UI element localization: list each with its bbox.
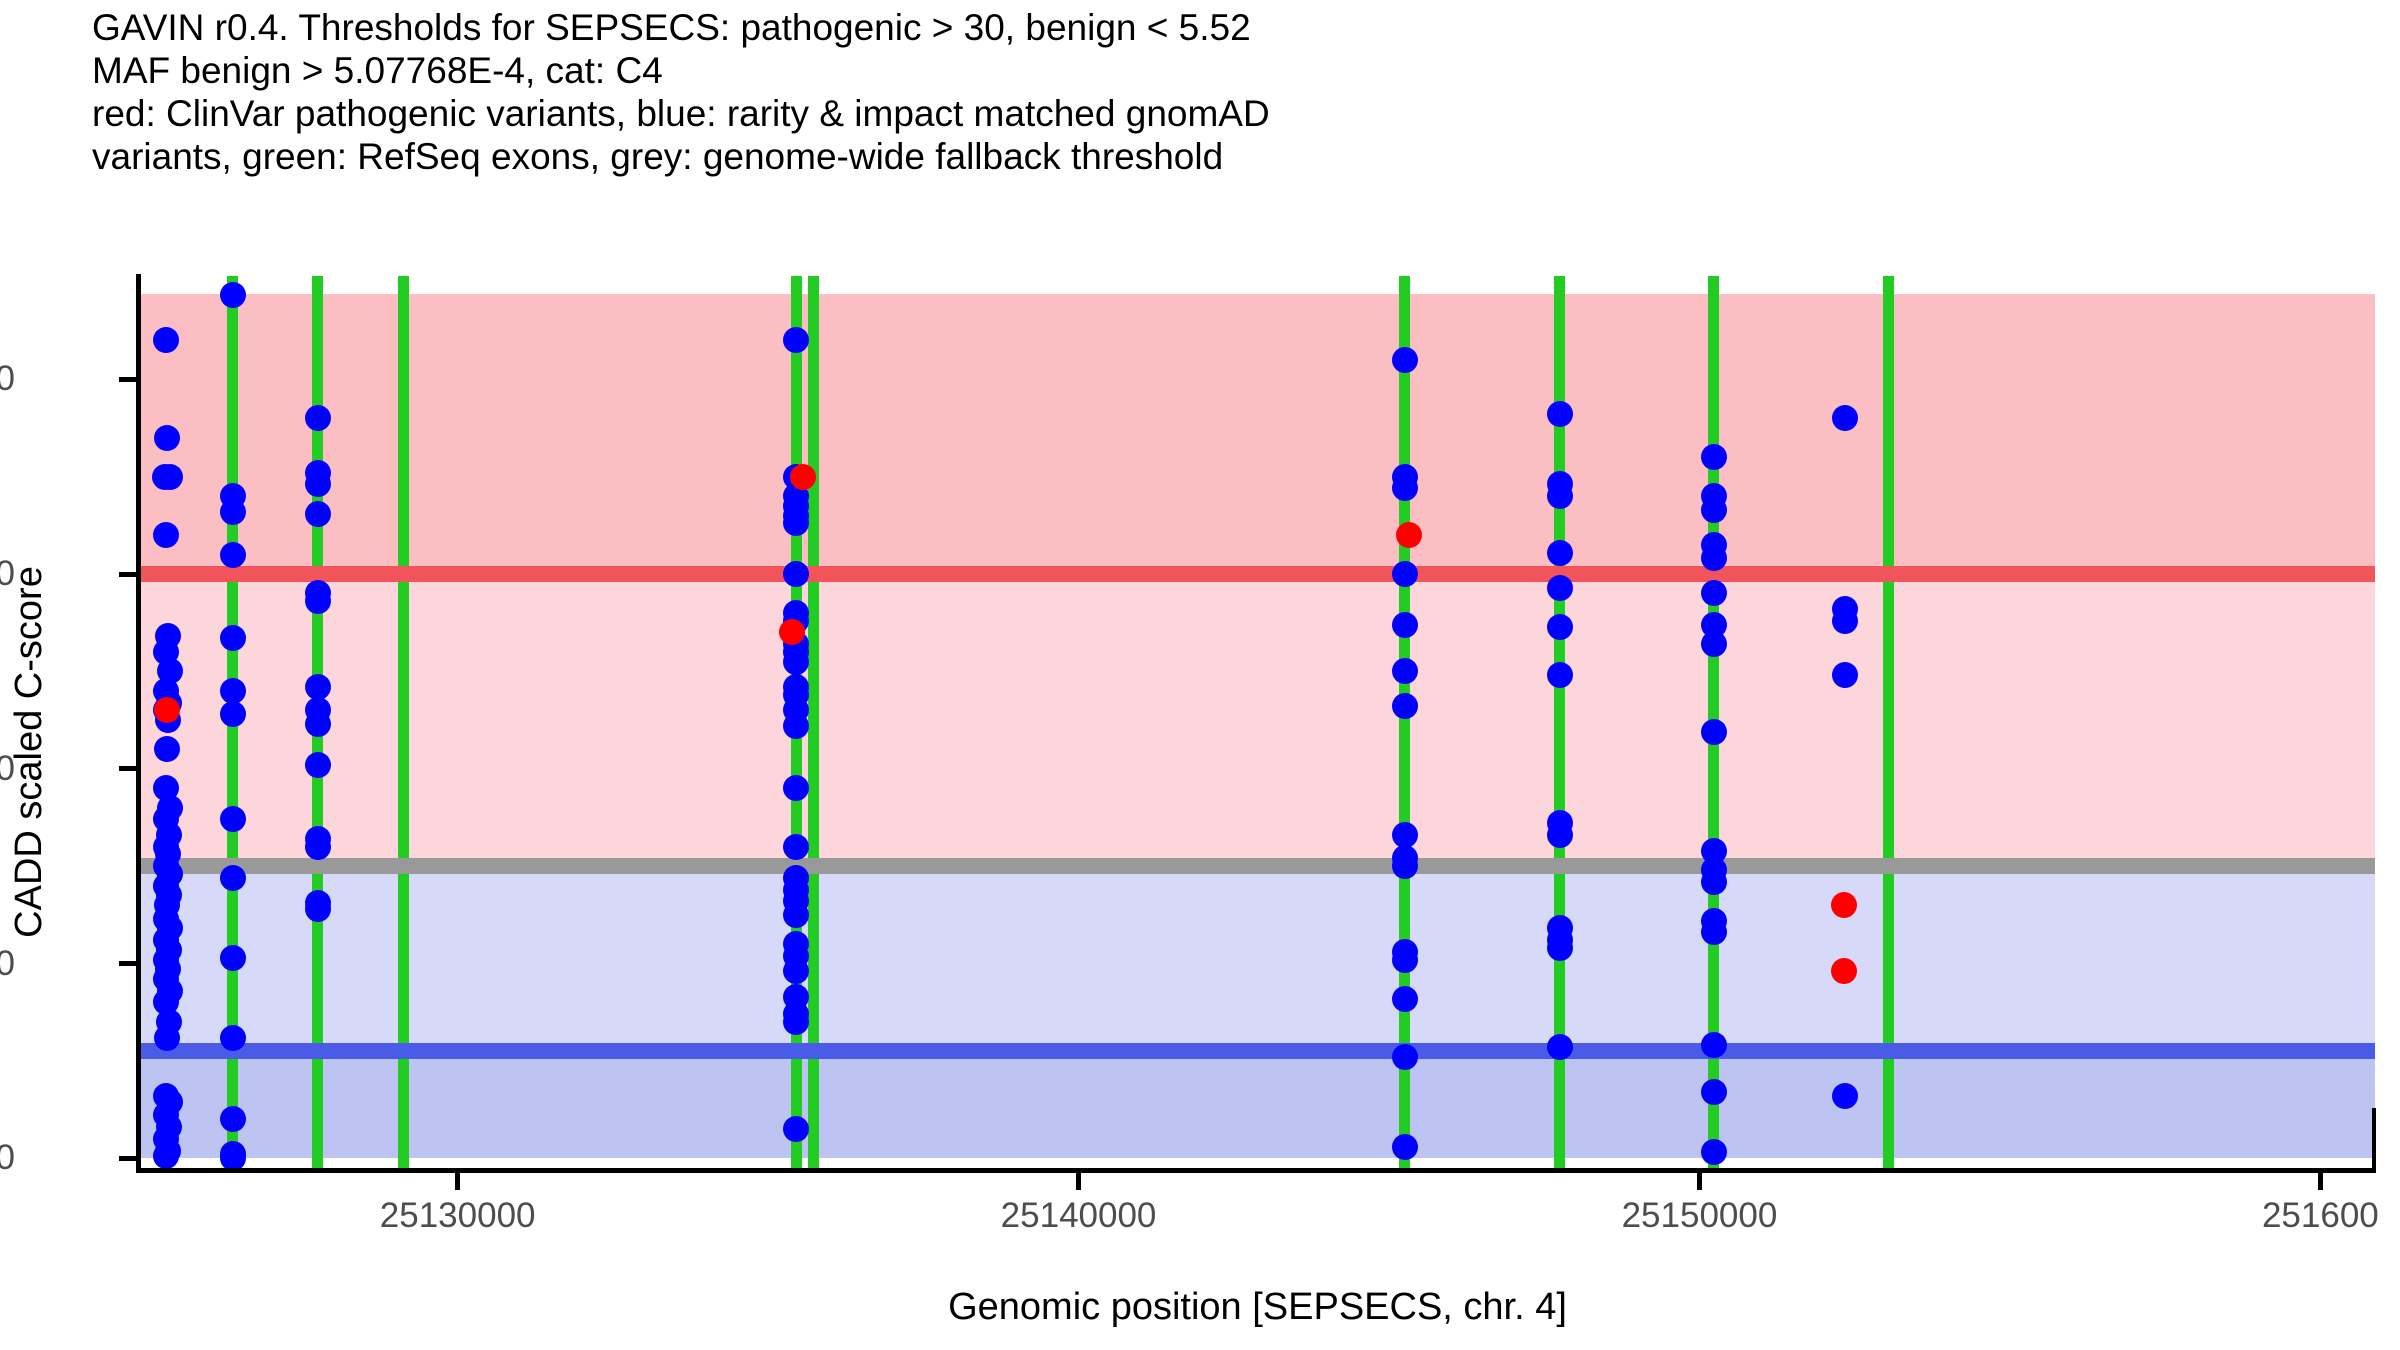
- chart-title-block: GAVIN r0.4. Thresholds for SEPSECS: path…: [92, 6, 2392, 178]
- data-point: [1392, 822, 1418, 848]
- exon-line-8: [1883, 276, 1894, 1170]
- data-point: [1396, 522, 1422, 548]
- data-point: [1392, 1134, 1418, 1160]
- exon-line-5: [1399, 276, 1410, 1170]
- exon-line-2: [398, 276, 409, 1170]
- data-point: [1701, 919, 1727, 945]
- exon-line-4: [808, 276, 819, 1170]
- data-point: [220, 1145, 246, 1170]
- x-axis-title: Genomic position [SEPSECS, chr. 4]: [140, 1286, 2375, 1329]
- band-vus: [141, 574, 2375, 866]
- data-point: [783, 649, 809, 675]
- data-point: [305, 588, 331, 614]
- chart-root: GAVIN r0.4. Thresholds for SEPSECS: path…: [0, 0, 2400, 1350]
- plot-area: [141, 276, 2375, 1170]
- data-point: [305, 471, 331, 497]
- pathogenic-threshold-line: [141, 566, 2375, 582]
- data-point: [154, 1025, 180, 1051]
- data-point: [1392, 693, 1418, 719]
- data-point: [1547, 575, 1573, 601]
- data-point: [1392, 658, 1418, 684]
- data-point: [305, 711, 331, 737]
- data-point: [1547, 540, 1573, 566]
- data-point: [1701, 1032, 1727, 1058]
- data-point: [220, 701, 246, 727]
- data-point: [305, 501, 331, 527]
- title-line-3: red: ClinVar pathogenic variants, blue: …: [92, 92, 2392, 135]
- x-tick: [2318, 1173, 2323, 1190]
- title-line-2: MAF benign > 5.07768E-4, cat: C4: [92, 49, 2392, 92]
- data-point: [1392, 347, 1418, 373]
- data-point: [220, 625, 246, 651]
- data-point: [154, 425, 180, 451]
- data-point: [1701, 869, 1727, 895]
- band-pathogenic: [141, 294, 2375, 574]
- data-point: [153, 327, 179, 353]
- data-point: [783, 834, 809, 860]
- data-point: [220, 865, 246, 891]
- data-point: [220, 542, 246, 568]
- data-point: [1701, 545, 1727, 571]
- data-point: [1701, 444, 1727, 470]
- title-line-1: GAVIN r0.4. Thresholds for SEPSECS: path…: [92, 6, 2392, 49]
- data-point: [305, 752, 331, 778]
- data-point: [1547, 614, 1573, 640]
- band-uncertain-benign: [141, 866, 2375, 1051]
- data-point: [157, 464, 183, 490]
- data-point: [1547, 483, 1573, 509]
- y-tick: [119, 766, 136, 771]
- plot-frame-right-edge: [2372, 1108, 2376, 1172]
- x-tick-label: 25130000: [308, 1196, 608, 1236]
- data-point: [1547, 662, 1573, 688]
- data-point: [1392, 612, 1418, 638]
- data-point: [1832, 608, 1858, 634]
- x-tick-label: 25150000: [1549, 1196, 1849, 1236]
- data-point: [1701, 1139, 1727, 1165]
- data-point: [1547, 935, 1573, 961]
- data-point: [1701, 497, 1727, 523]
- y-tick: [119, 377, 136, 382]
- y-tick: [119, 572, 136, 577]
- data-point: [1392, 475, 1418, 501]
- y-axis-line: [136, 274, 141, 1172]
- data-point: [1547, 822, 1573, 848]
- data-point: [1547, 1034, 1573, 1060]
- title-line-4: variants, green: RefSeq exons, grey: gen…: [92, 135, 2392, 178]
- x-tick-label: 25140000: [929, 1196, 1229, 1236]
- data-point: [220, 499, 246, 525]
- x-axis-line: [136, 1168, 2376, 1173]
- data-point: [305, 896, 331, 922]
- y-axis-title: CADD scaled C-score: [3, 257, 55, 1247]
- y-tick: [119, 1156, 136, 1161]
- data-point: [790, 464, 816, 490]
- data-point: [1392, 947, 1418, 973]
- data-point: [1701, 719, 1727, 745]
- data-point: [153, 1143, 179, 1169]
- data-point: [1701, 1079, 1727, 1105]
- x-tick: [1697, 1173, 1702, 1190]
- plot-inner: [141, 276, 2375, 1170]
- data-point: [220, 945, 246, 971]
- x-tick: [455, 1173, 460, 1190]
- data-point: [1701, 631, 1727, 657]
- benign-threshold-line: [141, 1043, 2375, 1059]
- data-point: [779, 619, 805, 645]
- data-point: [305, 834, 331, 860]
- fallback-threshold-line: [141, 858, 2375, 874]
- data-point: [1392, 853, 1418, 879]
- band-benign: [141, 1051, 2375, 1159]
- data-point: [1392, 561, 1418, 587]
- data-point: [1547, 401, 1573, 427]
- x-tick: [1076, 1173, 1081, 1190]
- data-point: [305, 674, 331, 700]
- data-point: [220, 1025, 246, 1051]
- data-point: [305, 405, 331, 431]
- x-tick-label: 251600: [2170, 1196, 2400, 1236]
- data-point: [220, 678, 246, 704]
- data-point: [1392, 1044, 1418, 1070]
- y-tick: [119, 961, 136, 966]
- data-point: [1392, 986, 1418, 1012]
